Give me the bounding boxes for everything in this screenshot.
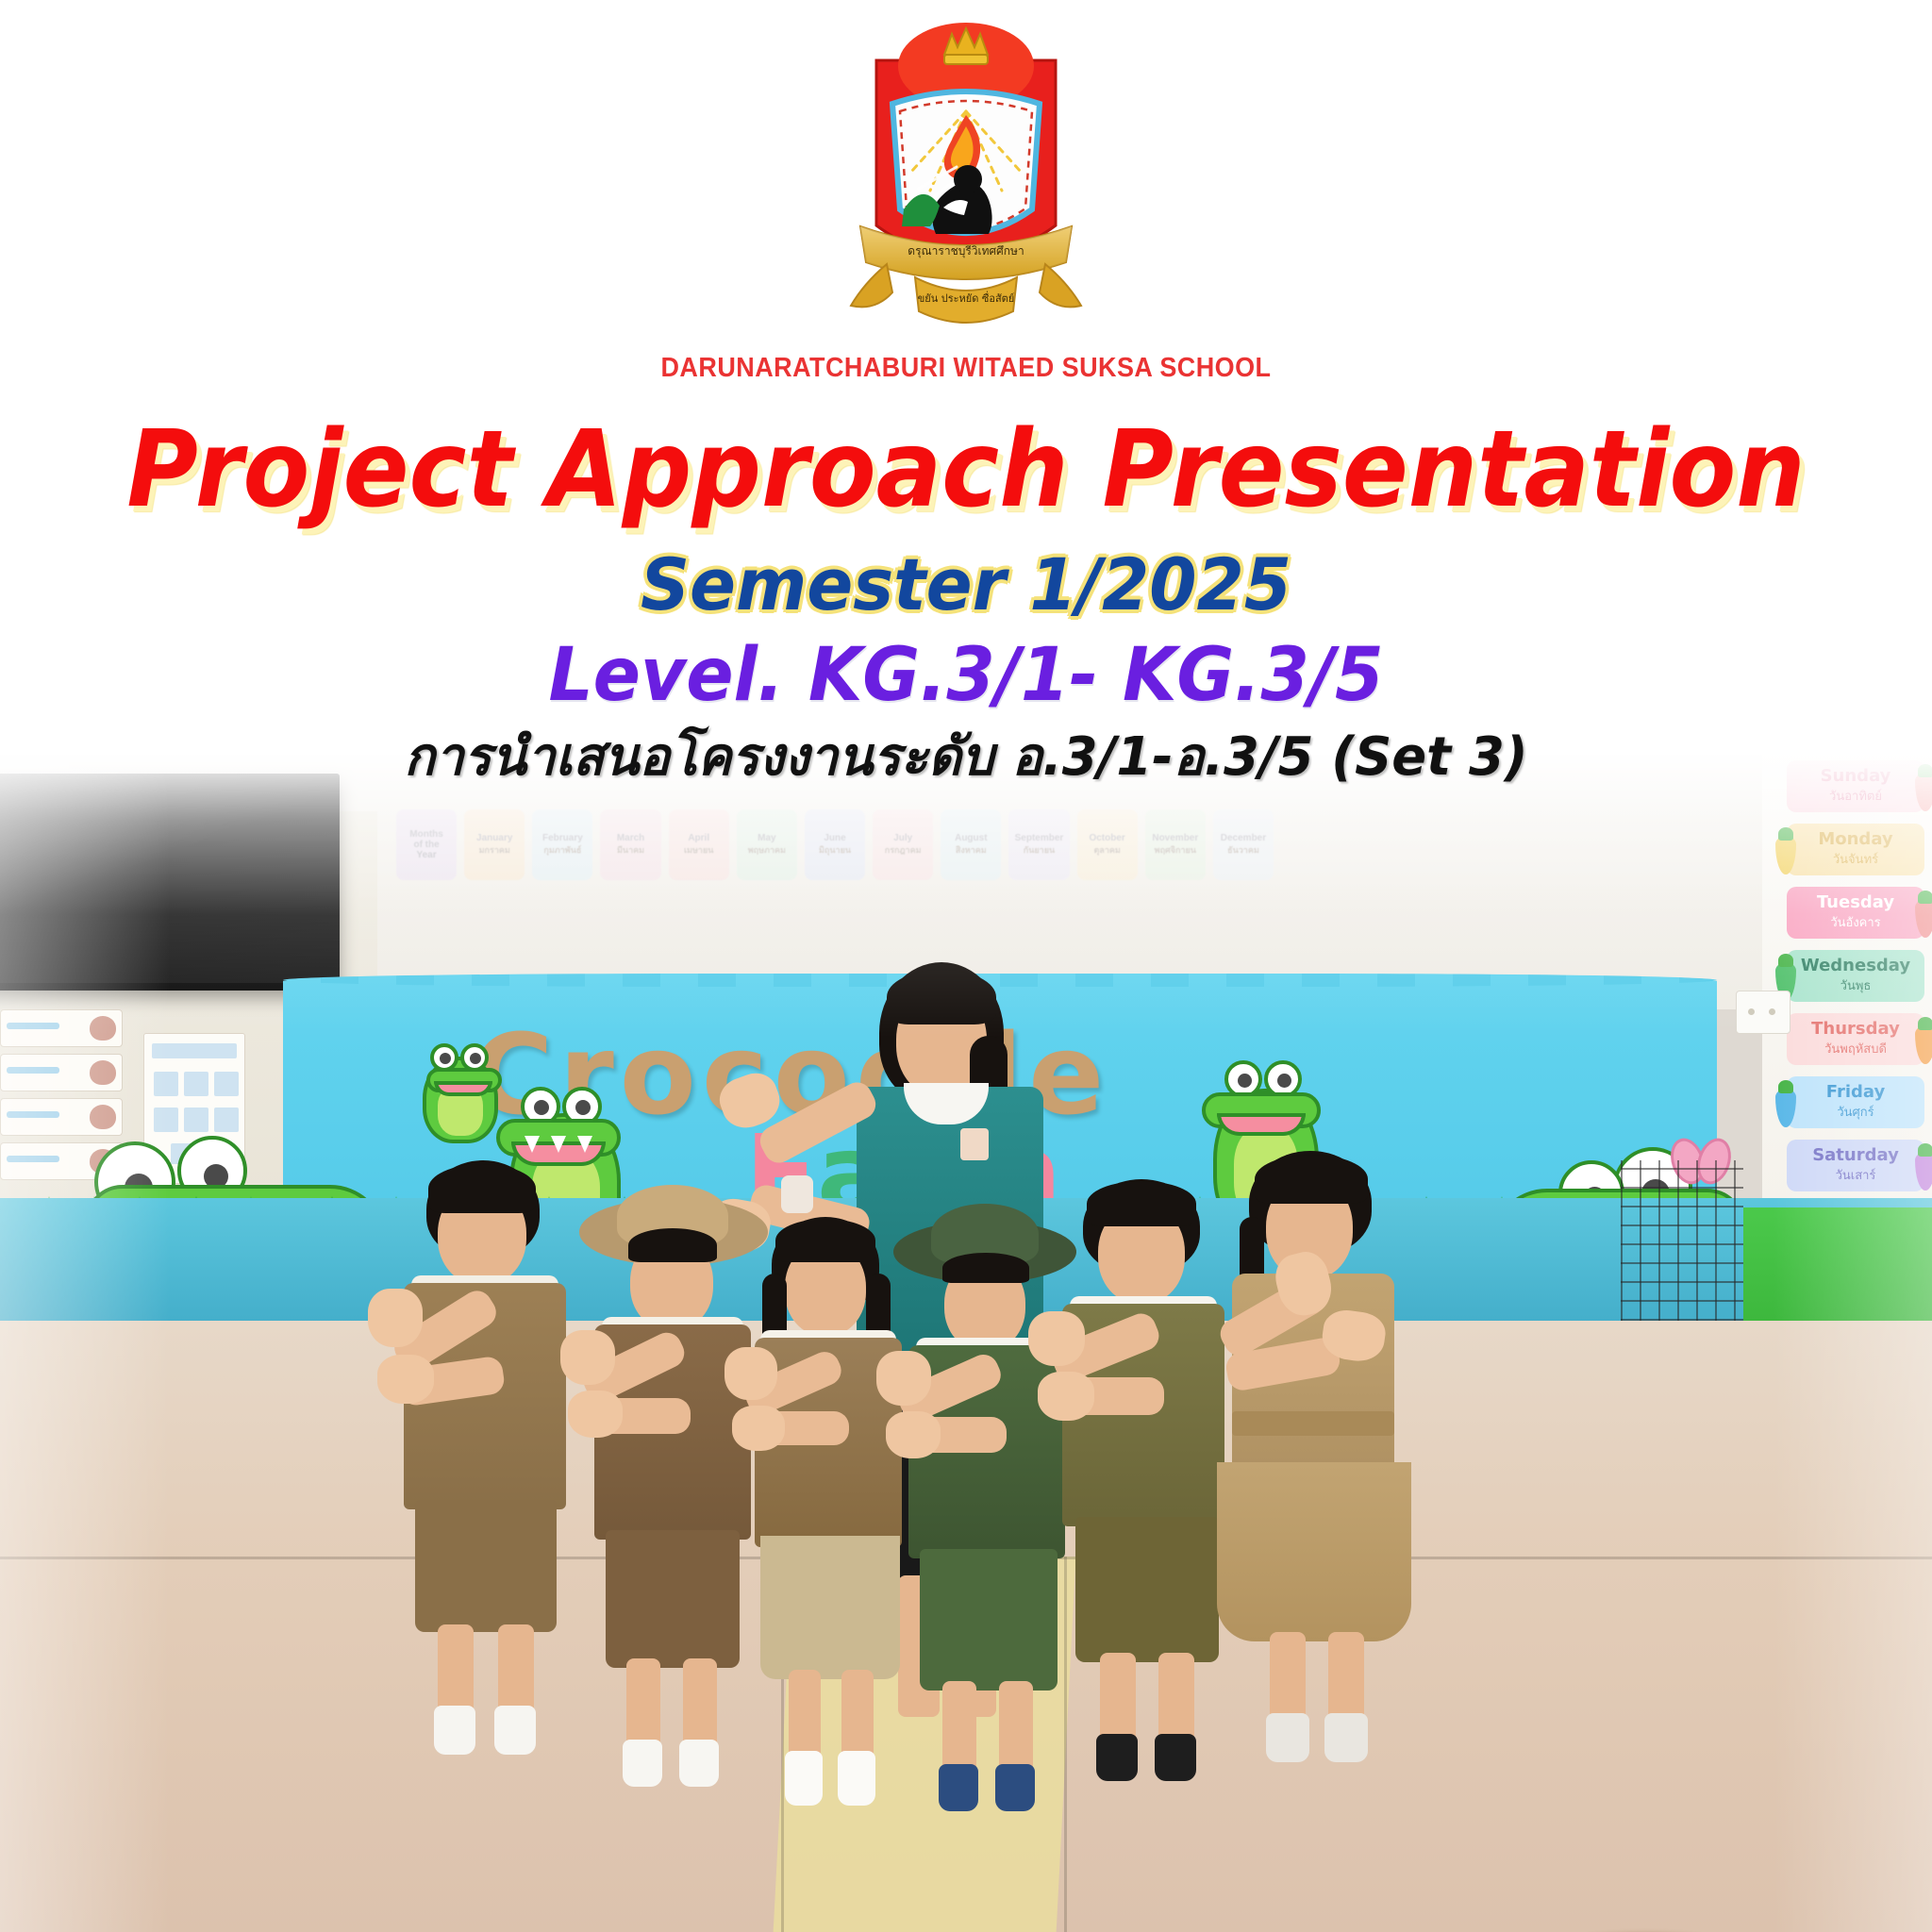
month-card: Juneมิถุนายน <box>805 809 865 880</box>
school-badge-icon <box>960 1128 989 1160</box>
school-crest-icon: ดรุณาราชบุรีวิเทศศึกษา ขยัน ประหยัด ซื่อ… <box>824 21 1108 332</box>
dress-belt <box>1232 1411 1394 1436</box>
months-of-year-strip: Monthsof theYearJanuaryมกราคมFebruaryกุม… <box>396 809 1274 880</box>
wall-tv-icon <box>0 774 340 991</box>
month-card: Marchมีนาคม <box>600 809 660 880</box>
presentation-poster: ดรุณาราชบุรีวิเทศศึกษา ขยัน ประหยัด ซื่อ… <box>0 0 1932 1932</box>
month-card: Januaryมกราคม <box>464 809 525 880</box>
month-card: Novemberพฤศจิกายน <box>1145 809 1206 880</box>
student-6 <box>1217 1151 1472 1774</box>
month-card: Augustสิงหาคม <box>941 809 1001 880</box>
school-name: DARUNARATCHABURI WITAED SUKSA SCHOOL <box>68 353 1865 384</box>
page-title: Project Approach Presentation <box>77 415 1855 526</box>
level-label: Level. KG.3/1- KG.3/5 <box>48 638 1884 715</box>
month-card: Februaryกุมภาพันธ์ <box>532 809 592 880</box>
month-card: Mayพฤษภาคม <box>737 809 797 880</box>
carrot-icon <box>1775 1090 1796 1127</box>
month-card: Octoberตุลาคม <box>1077 809 1138 880</box>
month-card: Decemberธันวาคม <box>1213 809 1274 880</box>
classroom-photo: Monthsof theYearJanuaryมกราคมFebruaryกุม… <box>0 755 1932 1932</box>
month-card: Septemberกันยายน <box>1008 809 1069 880</box>
carrot-icon <box>1915 1026 1932 1064</box>
months-header: Monthsof theYear <box>396 809 457 880</box>
day-card: Wednesdayวันพุธ <box>1787 950 1924 1002</box>
carrot-icon <box>1775 837 1796 874</box>
day-card: Fridayวันศุกร์ <box>1787 1076 1924 1128</box>
svg-text:ขยัน ประหยัด ซื่อสัตย์: ขยัน ประหยัด ซื่อสัตย์ <box>918 291 1015 305</box>
power-outlet-icon <box>1736 991 1790 1034</box>
poster-header: ดรุณาราชบุรีวิเทศศึกษา ขยัน ประหยัด ซื่อ… <box>0 0 1932 783</box>
month-card: Aprilเมษายน <box>669 809 729 880</box>
carrot-icon <box>1915 900 1932 938</box>
day-card: Thursdayวันพฤหัสบดี <box>1787 1013 1924 1065</box>
day-card: Mondayวันจันทร์ <box>1787 824 1924 875</box>
svg-text:ดรุณาราชบุรีวิเทศศึกษา: ดรุณาราชบุรีวิเทศศึกษา <box>908 244 1024 258</box>
semester-label: Semester 1/2025 <box>48 547 1884 623</box>
day-card: Tuesdayวันอังคาร <box>1787 887 1924 939</box>
month-card: Julyกรกฎาคม <box>873 809 933 880</box>
thai-subtitle: การนำเสนอโครงงานระดับ อ.3/1-อ.3/5 (Set 3… <box>29 728 1904 787</box>
